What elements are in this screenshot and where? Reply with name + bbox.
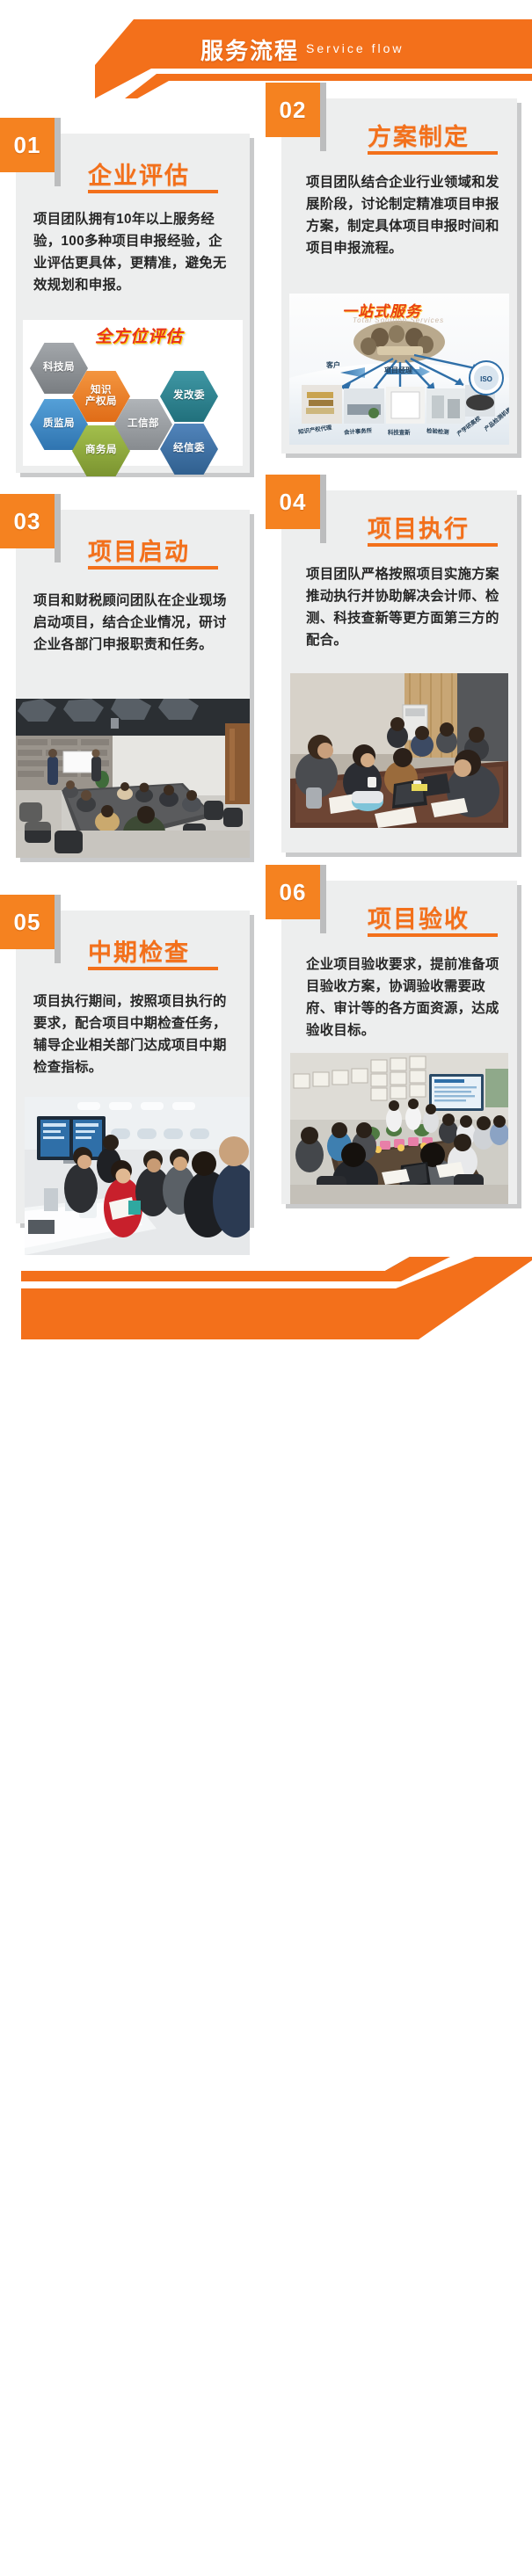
step-card-04[interactable]: 04 项目执行 项目团队严格按照项目实施方案推动执行并协助解决会计师、检测、科技… (281, 490, 517, 853)
one-stop-label-pm: 项目经理 (384, 366, 412, 375)
step-description: 项目团队拥有10年以上服务经验，100多种项目申报经验，企业评估更具体，更精准，… (33, 209, 234, 297)
one-stop-bottom-label-4: 检验检测 (426, 426, 449, 436)
one-stop-bottom-label-3: 科技查新 (388, 428, 411, 436)
svg-text:ISO: ISO (480, 375, 492, 383)
step-number-badge: 01 (0, 118, 55, 172)
title-underline (88, 566, 218, 570)
step-title: 项目启动 (88, 533, 190, 567)
step-title: 中期检查 (88, 933, 190, 968)
step-card-06[interactable]: 06 项目验收 企业项目验收要求，提前准备项目验收方案，协调验收需要政府、审计等… (281, 881, 517, 1204)
step-number-badge: 03 (0, 494, 55, 548)
photo-showroom-visit (25, 1097, 250, 1255)
service-flow-infographic: 服务流程 Service flow 01 企业评估 项目团队拥有10年以上服务经… (0, 0, 532, 1352)
title-underline (368, 543, 498, 547)
photo-art (290, 673, 508, 828)
photo-team-working-laptops (290, 673, 508, 828)
hexagon-node-jingxin: 经信委 (160, 424, 218, 475)
step-description: 项目团队结合企业行业领域和发展阶段，讨论制定精准项目申报方案，制定具体项目申报时… (306, 172, 503, 260)
step-description: 项目团队严格按照项目实施方案推动执行并协助解决会计师、检测、科技查新等更方面第三… (306, 564, 503, 652)
step-title: 项目执行 (368, 510, 470, 544)
hotline-number[interactable]: 400-150-1560 (158, 2551, 301, 2576)
step-number-badge: 06 (266, 865, 320, 919)
step-description: 项目和财税顾问团队在企业现场启动项目，结合企业情况，研讨企业各部门申报职责和任务… (33, 591, 234, 657)
step-title: 项目验收 (368, 900, 470, 934)
title-underline (368, 933, 498, 937)
one-stop-subtitle: Total Solution Services (353, 316, 444, 324)
hexagon-node-fagai: 发改委 (160, 371, 218, 422)
photo-art (25, 1097, 250, 1255)
hexagon-chart-title: 全方位评估 (95, 323, 183, 347)
one-stop-service-diagram: ISO 一站式服务 Total Solution Services 客户 项目经… (289, 294, 509, 445)
page-footer: 全国统一热线： 400-150-1560 (0, 1257, 532, 1352)
photo-art (16, 699, 250, 858)
page-subtitle: Service flow (306, 41, 404, 55)
step-description: 项目执行期间，按照项目执行的要求，配合项目中期检查任务，辅导企业相关部门达成项目… (33, 991, 234, 1079)
step-number-badge: 04 (266, 475, 320, 529)
step-card-02[interactable]: 02 方案制定 项目团队结合企业行业领域和发展阶段，讨论制定精准项目申报方案，制… (281, 98, 517, 454)
footer-banner-shape (0, 1257, 532, 1355)
title-underline (88, 967, 218, 970)
page-title: 服务流程 (200, 33, 299, 66)
step-card-01[interactable]: 01 企业评估 项目团队拥有10年以上服务经验，100多种项目申报经验，企业评估… (16, 134, 250, 473)
title-underline (368, 151, 498, 155)
hotline-label: 全国统一热线： (51, 2554, 143, 2572)
hexagon-chart: 全方位评估 科技局 知识产权局 质监局 商务局 工信部 发改委 经信委 (23, 320, 243, 466)
page-header: 服务流程 Service flow (0, 0, 532, 95)
photo-conference-room-meeting (16, 699, 250, 858)
photo-boardroom-presentation (290, 1053, 508, 1204)
step-number-badge: 02 (266, 83, 320, 137)
photo-art (290, 1053, 508, 1204)
step-card-05[interactable]: 05 中期检查 项目执行期间，按照项目执行的要求，配合项目中期检查任务，辅导企业… (16, 911, 250, 1223)
step-number-badge: 05 (0, 895, 55, 949)
title-underline (88, 190, 218, 193)
step-card-03[interactable]: 03 项目启动 项目和财税顾问团队在企业现场启动项目，结合企业情况，研讨企业各部… (16, 510, 250, 858)
one-stop-label-customer: 客户 (326, 360, 340, 370)
step-title: 方案制定 (368, 118, 470, 152)
step-title: 企业评估 (88, 156, 190, 191)
step-description: 企业项目验收要求，提前准备项目验收方案，协调验收需要政府、审计等的各方面资源，达… (306, 954, 503, 1042)
